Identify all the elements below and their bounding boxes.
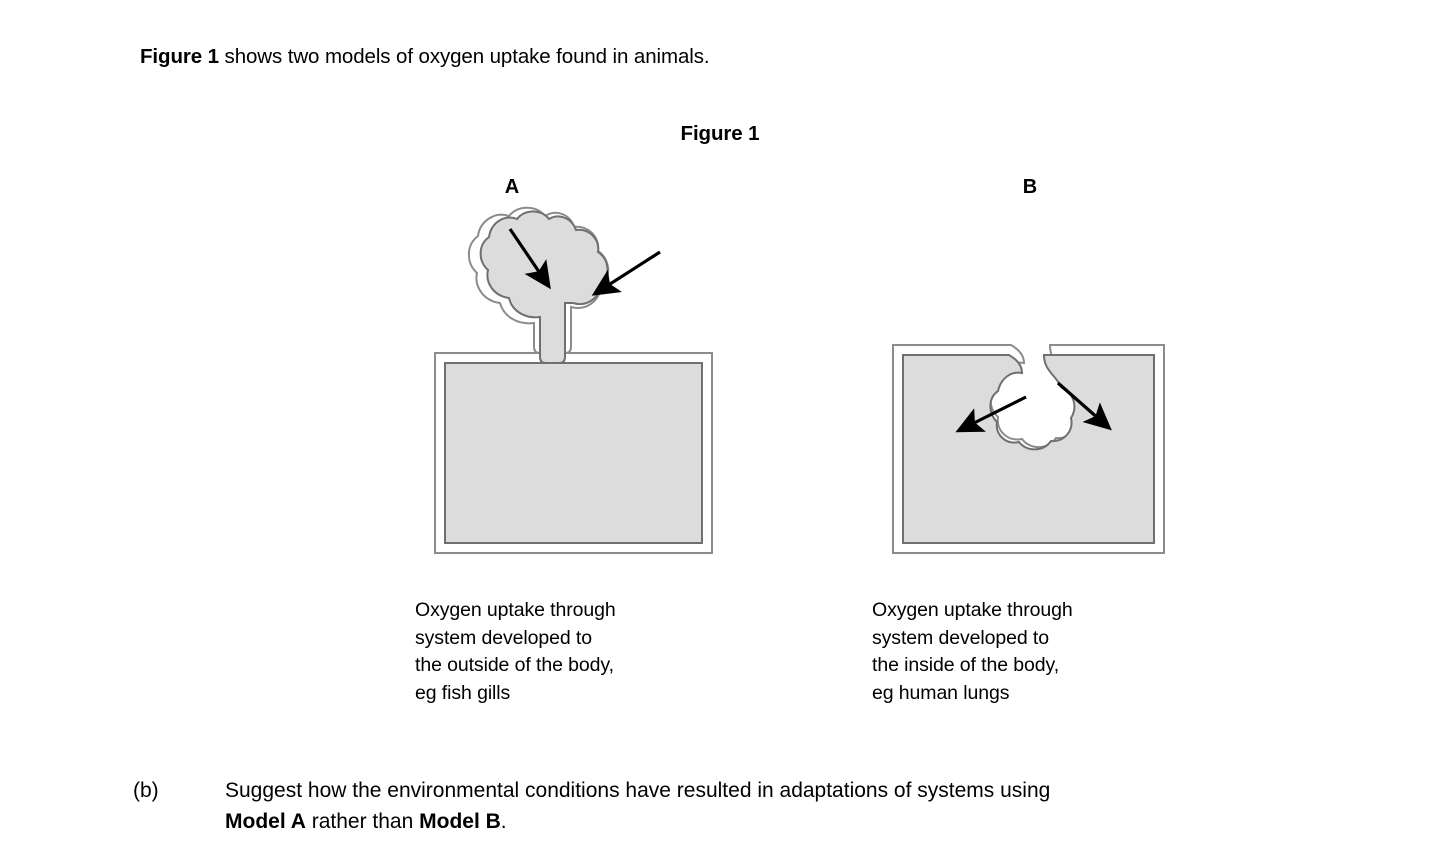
model-label-a: A: [482, 176, 542, 199]
question-bold-model-b: Model B: [419, 810, 501, 833]
model-b-diagram: [878, 205, 1198, 570]
question-marker: (b): [133, 775, 193, 806]
model-label-b: B: [1000, 176, 1060, 199]
question-text-part-3: .: [501, 810, 507, 833]
question-text: Suggest how the environmental conditions…: [225, 775, 1433, 837]
model-b-caption: Oxygen uptake through system developed t…: [872, 597, 1202, 707]
intro-rest: shows two models of oxygen uptake found …: [219, 45, 710, 68]
figure-title: Figure 1: [0, 122, 1440, 146]
worksheet-page: Figure 1 shows two models of oxygen upta…: [0, 0, 1440, 866]
model-b-inner-body: [903, 355, 1154, 543]
model-a-inner-body: [445, 212, 702, 544]
model-a-caption: Oxygen uptake through system developed t…: [415, 597, 745, 707]
intro-sentence: Figure 1 shows two models of oxygen upta…: [140, 44, 709, 70]
question-text-part-2: rather than: [306, 810, 419, 833]
model-a-diagram: [420, 205, 740, 570]
question-bold-model-a: Model A: [225, 810, 306, 833]
intro-bold-prefix: Figure 1: [140, 45, 219, 68]
question-text-part-1: Suggest how the environmental conditions…: [225, 779, 1050, 802]
question-block: (b) Suggest how the environmental condit…: [133, 775, 1433, 837]
